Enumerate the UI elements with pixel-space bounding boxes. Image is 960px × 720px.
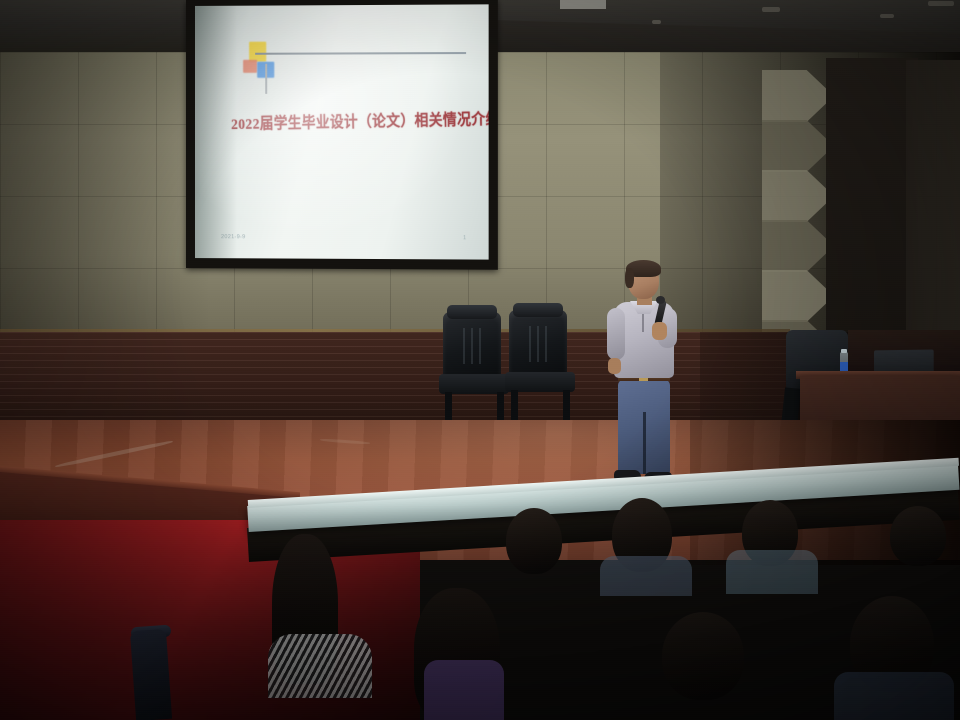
microphone-capsule (656, 296, 665, 304)
ceiling-light (880, 14, 894, 18)
water-bottle-cap (841, 349, 847, 353)
presenter (606, 262, 682, 494)
presenter-hand-left (608, 358, 621, 374)
seat (900, 606, 960, 720)
acoustic-zigzag-column (762, 70, 834, 370)
screen-left-shading (195, 6, 237, 259)
wall-pillar (826, 58, 918, 370)
aisle-seat-end-panel (130, 629, 172, 720)
slide-divider-rule (255, 52, 466, 54)
slide-title: 2022届学生毕业设计（论文）相关情况介绍 (231, 106, 475, 133)
seat (250, 628, 432, 720)
wall-shadow-left (0, 52, 210, 342)
ceiling-light (928, 1, 954, 6)
ceiling-vent (560, 0, 606, 9)
presenter-arm-left (607, 308, 625, 360)
ceiling-light (652, 20, 661, 24)
slide-page-number: 1 (463, 235, 466, 241)
audience-shoulders-purple (424, 660, 504, 720)
slide-logo-icon (239, 40, 287, 80)
projection-screen: 2022届学生毕业设计（论文）相关情况介绍 2021-9-9 1 (195, 4, 489, 259)
water-bottle-label (840, 362, 848, 371)
wall-pillar-far (906, 60, 960, 360)
presenter-shirt-placket (642, 312, 644, 332)
projection-screen-frame: 2022届学生毕业设计（论文）相关情况介绍 2021-9-9 1 (186, 0, 498, 270)
auditorium-photo: 2022届学生毕业设计（论文）相关情况介绍 2021-9-9 1 (0, 0, 960, 720)
presenter-leg-seam (643, 412, 646, 474)
seat (556, 644, 746, 720)
presenter-hand-right (652, 322, 667, 340)
ceiling-light (762, 7, 780, 12)
presenter-hair-side (625, 268, 634, 288)
